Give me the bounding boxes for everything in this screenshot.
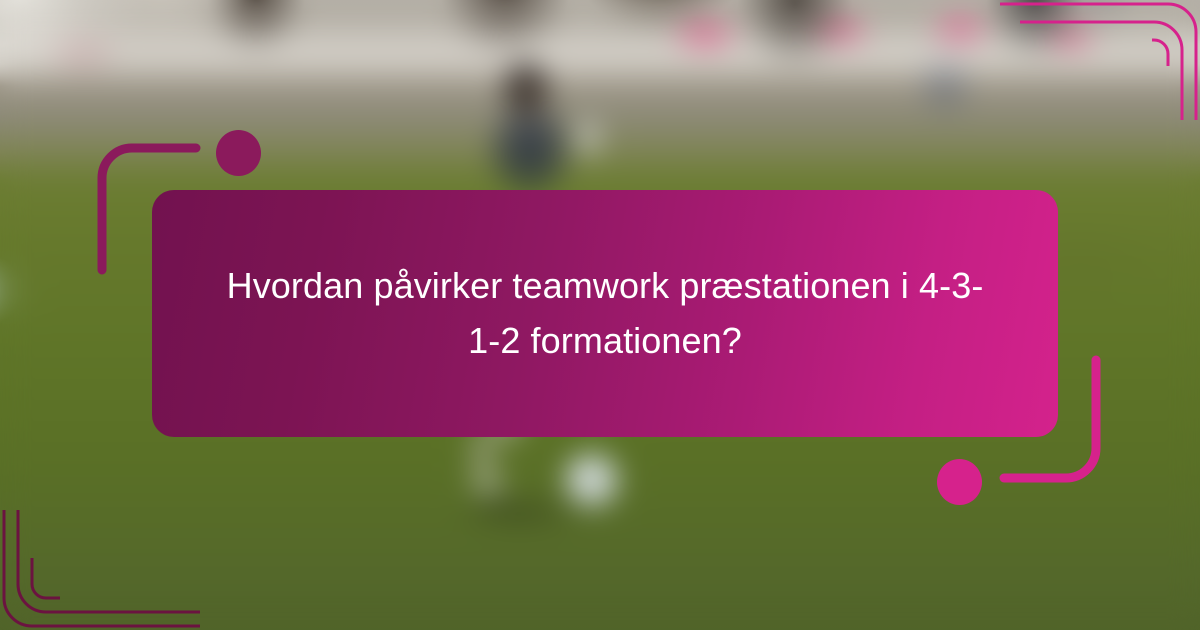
accent-dot-top-left <box>216 130 261 176</box>
quote-card: Hvordan påvirker teamwork præstationen i… <box>152 190 1058 437</box>
quote-text: Hvordan påvirker teamwork præstationen i… <box>225 259 985 368</box>
accent-dot-bottom-right <box>937 459 982 505</box>
quote-card-graphic: Hvordan påvirker teamwork præstationen i… <box>0 0 1200 630</box>
